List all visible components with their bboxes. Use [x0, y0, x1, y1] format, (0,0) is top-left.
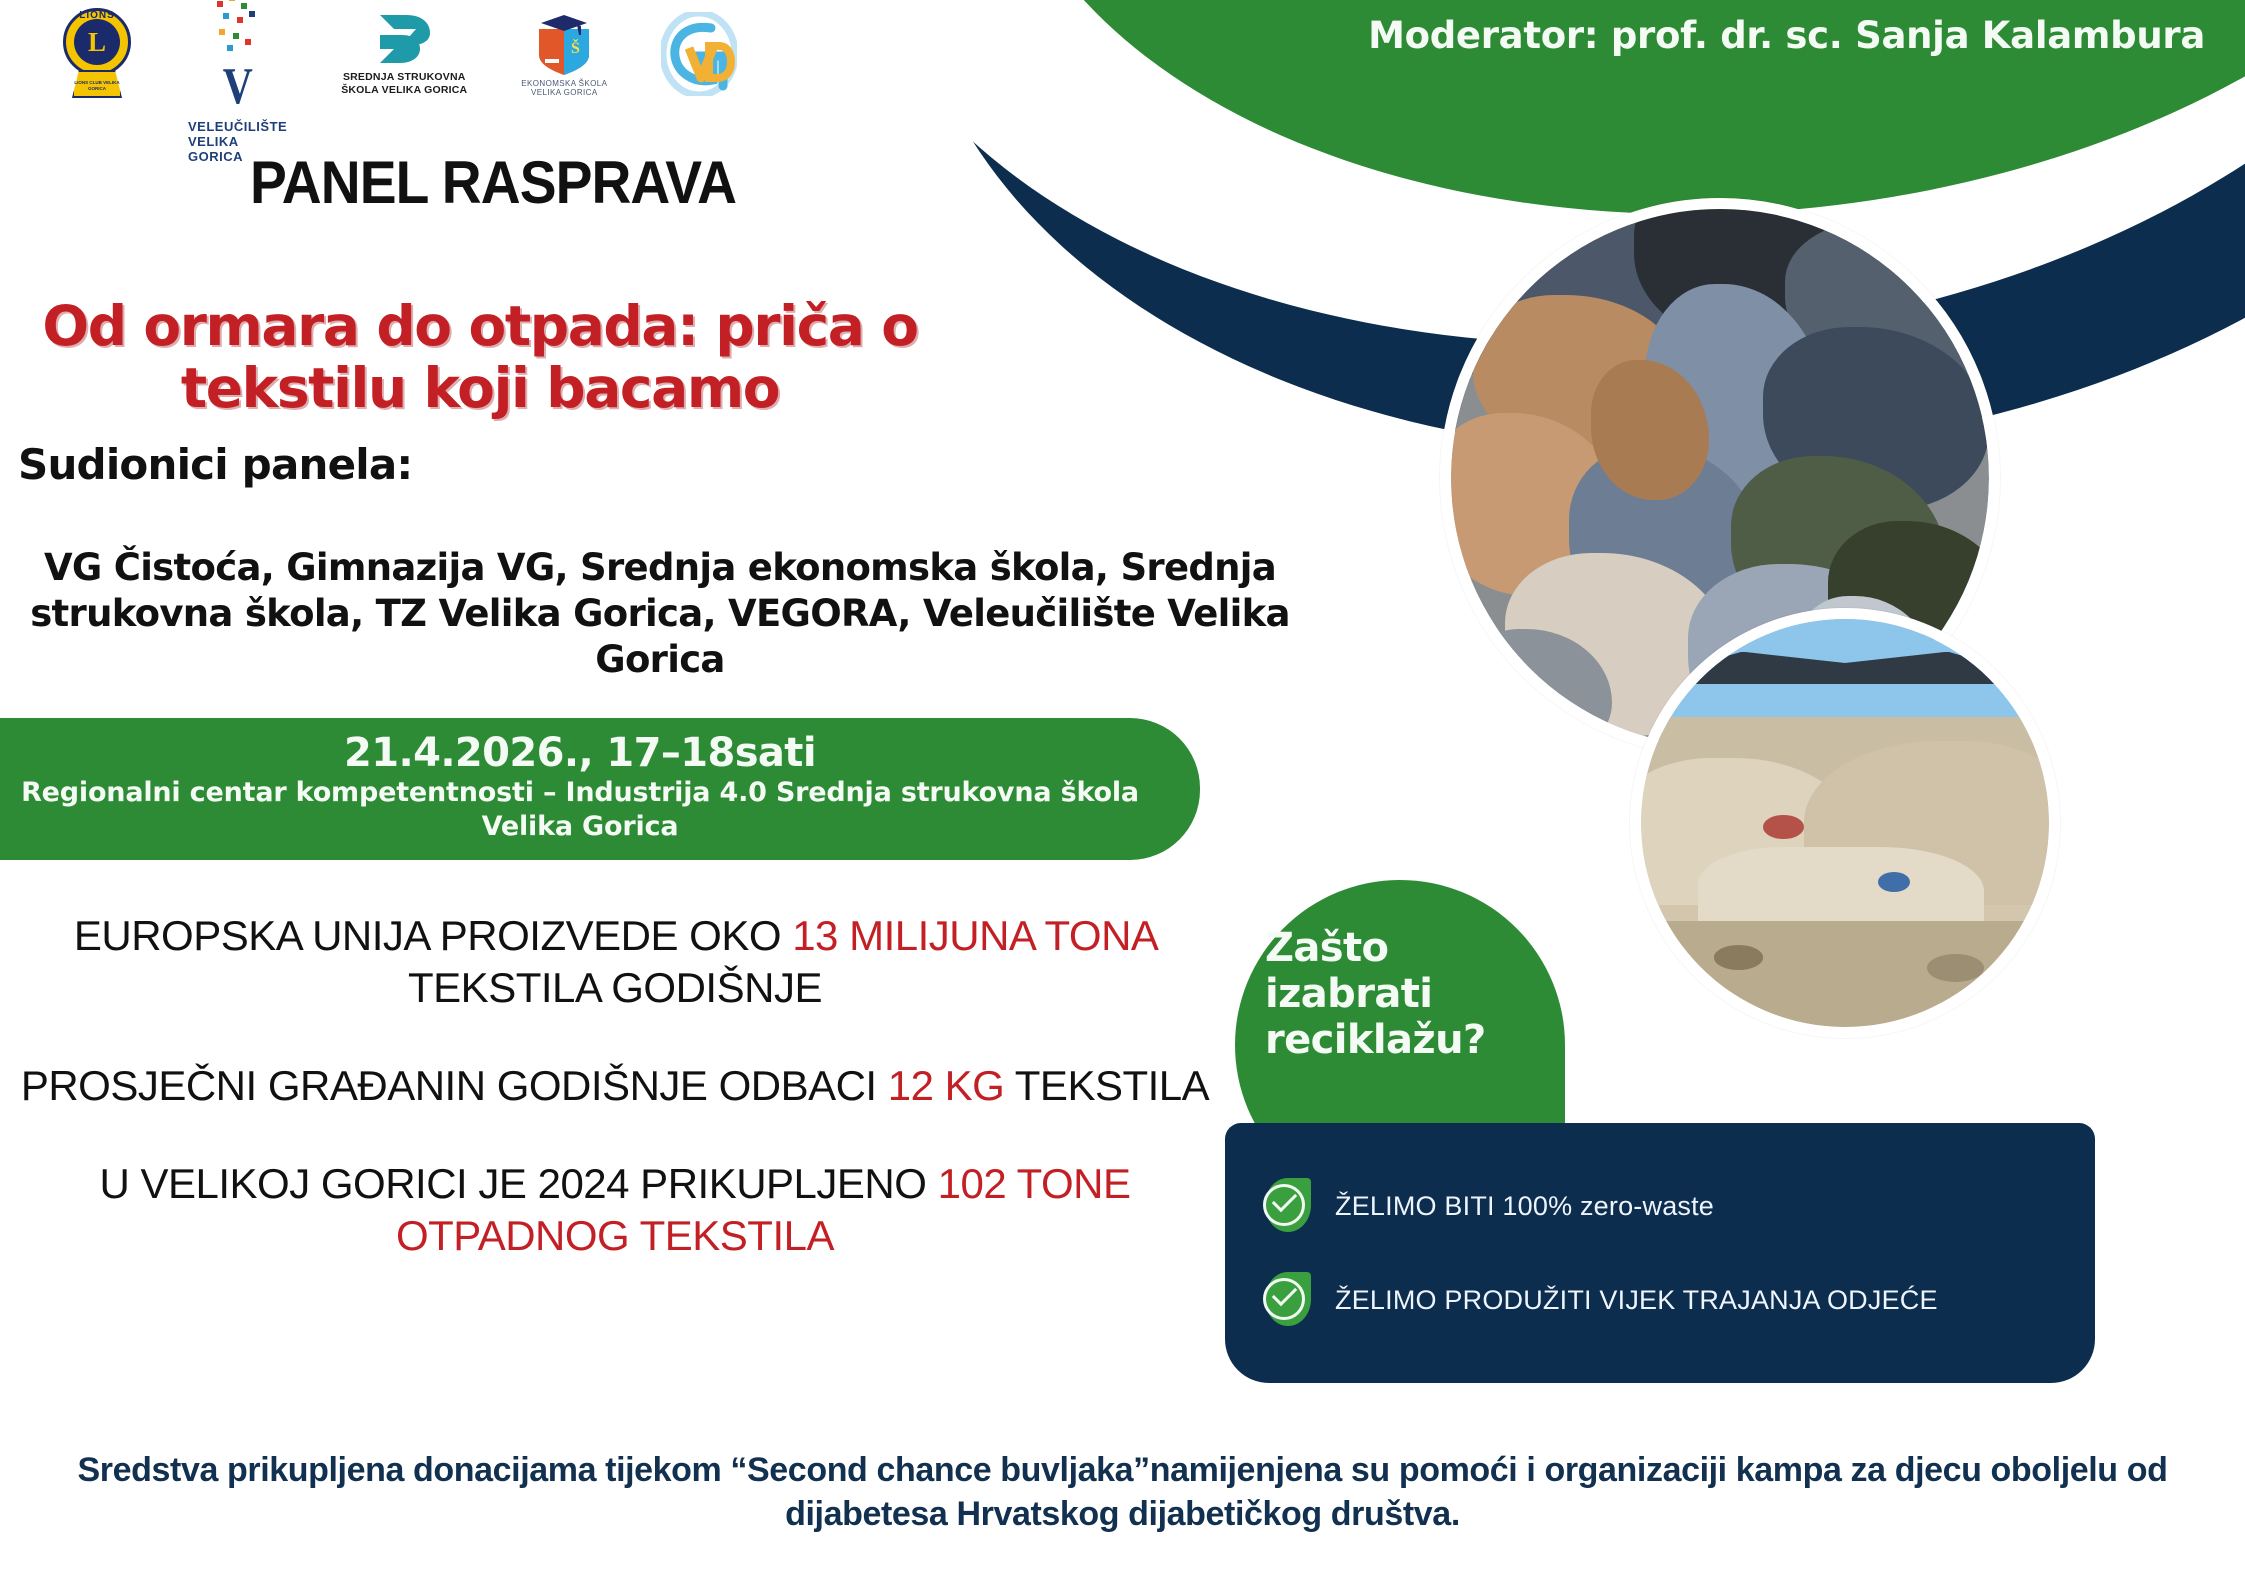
check-circle-icon — [1261, 1178, 1313, 1234]
srednja-strukovna-skola-logo: SREDNJA STRUKOVNA ŠKOLA VELIKA GORICA — [341, 11, 467, 97]
statistics-block: EUROPSKA UNIJA PROIZVEDE OKO 13 MILIJUNA… — [0, 910, 1230, 1308]
photo-textile-landfill-image — [1641, 619, 2049, 1027]
lions-letter: L — [74, 19, 120, 65]
statistic-item: EUROPSKA UNIJA PROIZVEDE OKO 13 MILIJUNA… — [0, 910, 1230, 1014]
statistic-suffix: TEKSTILA GODIŠNJE — [408, 964, 822, 1011]
eko-line2: VELIKA GORICA — [521, 88, 607, 97]
ssvg-line1: SREDNJA STRUKOVNA — [341, 71, 467, 84]
landfill-art — [1641, 619, 2049, 1027]
date-venue-banner: 21.4.2026., 17–18sati Regionalni centar … — [0, 718, 1200, 860]
lions-club-name: LIONS CLUB VELIKA GORICA — [72, 80, 122, 92]
why-recycle-heading: Zašto izabrati reciklažu? — [1265, 925, 1565, 1063]
list-item: ŽELIMO PRODUŽITI VIJEK TRAJANJA ODJEĆE — [1261, 1272, 2095, 1328]
svg-text:Š: Š — [571, 38, 580, 57]
statistic-highlight: 12 KG — [888, 1062, 1005, 1109]
statistic-item: PROSJEČNI GRAĐANIN GODIŠNJE ODBACI 12 KG… — [0, 1060, 1230, 1112]
checklist-label: ŽELIMO PRODUŽITI VIJEK TRAJANJA ODJEĆE — [1335, 1285, 1938, 1316]
moderator-label: Moderator: prof. dr. sc. Sanja Kalambura — [1368, 14, 2205, 57]
crest-graduation-cap-icon: Š — [533, 11, 595, 77]
srednja-strukovna-wordmark: SREDNJA STRUKOVNA ŠKOLA VELIKA GORICA — [341, 71, 467, 97]
participants-list: VG Čistoća, Gimnazija VG, Srednja ekonom… — [10, 545, 1310, 683]
veleuciliste-line3: GORICA — [188, 149, 287, 164]
statistic-prefix: PROSJEČNI GRAĐANIN GODIŠNJE ODBACI — [21, 1062, 888, 1109]
eko-line1: EKONOMSKA ŠKOLA — [521, 79, 607, 88]
ekonomska-wordmark: EKONOMSKA ŠKOLA VELIKA GORICA — [521, 79, 607, 97]
veleuciliste-line1: VELEUČILIŠTE — [188, 119, 287, 134]
statistic-item: U VELIKOJ GORICI JE 2024 PRIKUPLJENO 102… — [0, 1158, 1230, 1262]
statistic-prefix: EUROPSKA UNIJA PROIZVEDE OKO — [74, 912, 792, 959]
ssvg-line2: ŠKOLA VELIKA GORICA — [341, 84, 467, 97]
participants-label: Sudionici panela: — [18, 440, 412, 489]
panel-kicker: PANEL RASPRAVA — [250, 148, 736, 217]
check-circle-icon — [1261, 1272, 1313, 1328]
poster-canvas: Moderator: prof. dr. sc. Sanja Kalambura… — [0, 0, 2245, 1587]
event-venue: Regionalni centar kompetentnosti – Indus… — [0, 776, 1160, 844]
leaf-book-icon — [372, 11, 436, 67]
statistic-highlight: 13 MILIJUNA TONA — [792, 912, 1156, 959]
photo-textile-landfill — [1630, 608, 2060, 1038]
gvd-logo — [661, 12, 737, 96]
partner-logos-row: LIONS L LIONS CLUB VELIKA GORICA 23 V V — [60, 4, 737, 104]
lions-international-logo: LIONS L LIONS CLUB VELIKA GORICA — [60, 8, 134, 100]
veleuciliste-line2: VELIKA — [188, 134, 287, 149]
veleuciliste-chevron-icon: V — [223, 61, 253, 113]
veleuciliste-wordmark: VELEUČILIŠTE VELIKA GORICA — [188, 119, 287, 164]
veleuciliste-dots-icon — [215, 0, 261, 55]
donation-note: Sredstva prikupljena donacijama tijekom … — [60, 1448, 2185, 1536]
veleuciliste-velika-gorica-logo: 23 V VELEUČILIŠTE VELIKA GORICA — [188, 0, 287, 164]
ekonomska-skola-logo: Š EKONOMSKA ŠKOLA VELIKA GORICA — [521, 11, 607, 97]
checklist-label: ŽELIMO BITI 100% zero-waste — [1335, 1191, 1714, 1222]
list-item: ŽELIMO BITI 100% zero-waste — [1261, 1178, 2095, 1234]
statistic-prefix: U VELIKOJ GORICI JE 2024 PRIKUPLJENO — [99, 1160, 937, 1207]
why-recycle-checklist: ŽELIMO BITI 100% zero-waste ŽELIMO PRODU… — [1225, 1123, 2095, 1383]
statistic-suffix: TEKSTILA — [1004, 1062, 1209, 1109]
gvd-monogram-icon — [661, 12, 737, 96]
page-title: Od ormara do otpada: priča o tekstilu ko… — [20, 295, 940, 419]
event-datetime: 21.4.2026., 17–18sati — [344, 730, 816, 776]
